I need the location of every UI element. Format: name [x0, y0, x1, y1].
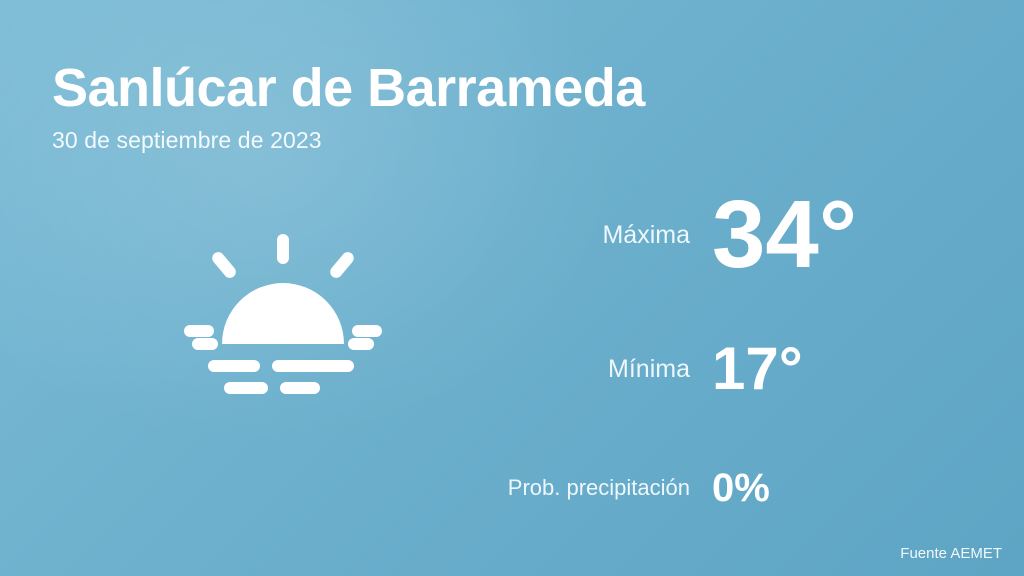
source-label: Fuente AEMET	[900, 545, 1002, 562]
weather-card: Sanlúcar de Barrameda 30 de septiembre d…	[0, 0, 1024, 576]
stats-list: Máxima 34° Mínima 17° Prob. precipitació…	[430, 170, 950, 552]
stat-row-maxima: Máxima 34°	[430, 170, 950, 300]
page-title: Sanlúcar de Barrameda	[52, 60, 645, 117]
date-label: 30 de septiembre de 2023	[52, 127, 645, 154]
precipitacion-label: Prob. precipitación	[430, 475, 712, 501]
stat-row-precipitacion: Prob. precipitación 0%	[430, 438, 950, 538]
sun-with-haze-icon	[178, 232, 388, 407]
stat-row-minima: Mínima 17°	[430, 314, 950, 424]
header: Sanlúcar de Barrameda 30 de septiembre d…	[52, 60, 645, 154]
minima-label: Mínima	[430, 355, 712, 384]
maxima-label: Máxima	[430, 221, 712, 250]
precipitacion-value: 0%	[712, 468, 770, 508]
minima-value: 17°	[712, 339, 803, 399]
maxima-value: 34°	[712, 187, 857, 283]
